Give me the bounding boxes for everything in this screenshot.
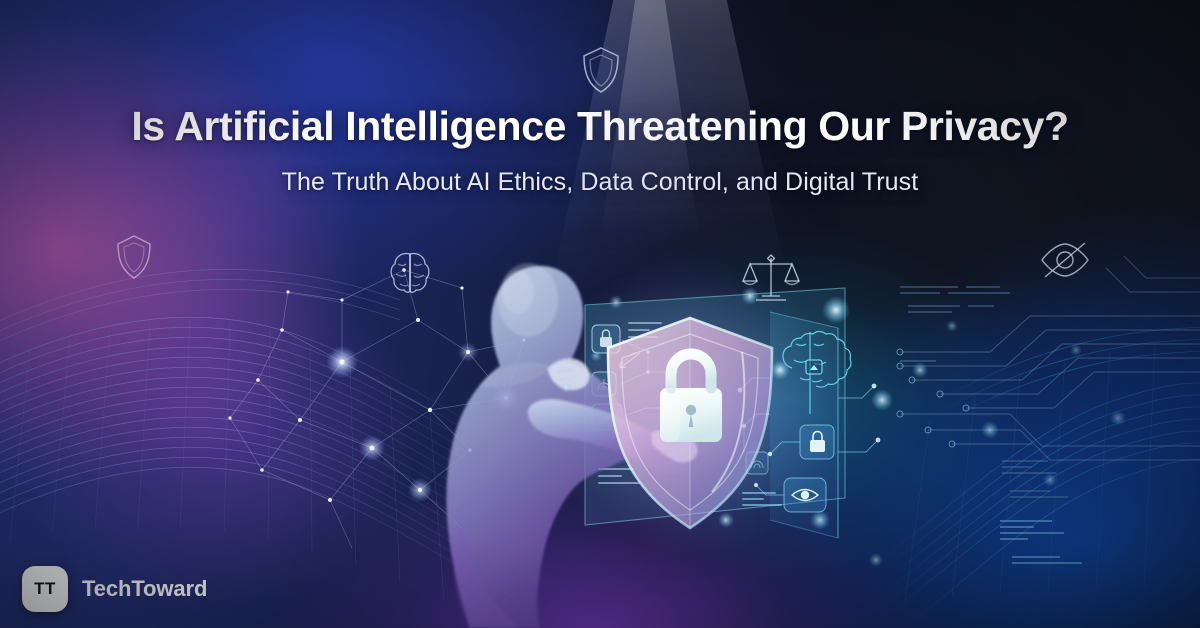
eye-slash-icon xyxy=(1036,238,1094,282)
scales-icon xyxy=(740,250,802,306)
shield-icon xyxy=(578,44,624,96)
logo-tile-icon: TT xyxy=(22,566,68,612)
brand-logo[interactable]: TT TechToward xyxy=(22,566,207,612)
lock-icon xyxy=(800,425,834,459)
promo-banner: Is Artificial Intelligence Threatening O… xyxy=(0,0,1200,628)
page-subtitle: The Truth About AI Ethics, Data Control,… xyxy=(0,168,1200,197)
page-title: Is Artificial Intelligence Threatening O… xyxy=(0,104,1200,150)
shield-icon-left xyxy=(113,233,155,281)
brain-icon xyxy=(385,248,435,296)
headline-block: Is Artificial Intelligence Threatening O… xyxy=(0,104,1200,197)
brand-name: TechToward xyxy=(82,576,207,602)
eye-icon xyxy=(784,478,826,512)
logo-monogram: TT xyxy=(34,579,56,599)
